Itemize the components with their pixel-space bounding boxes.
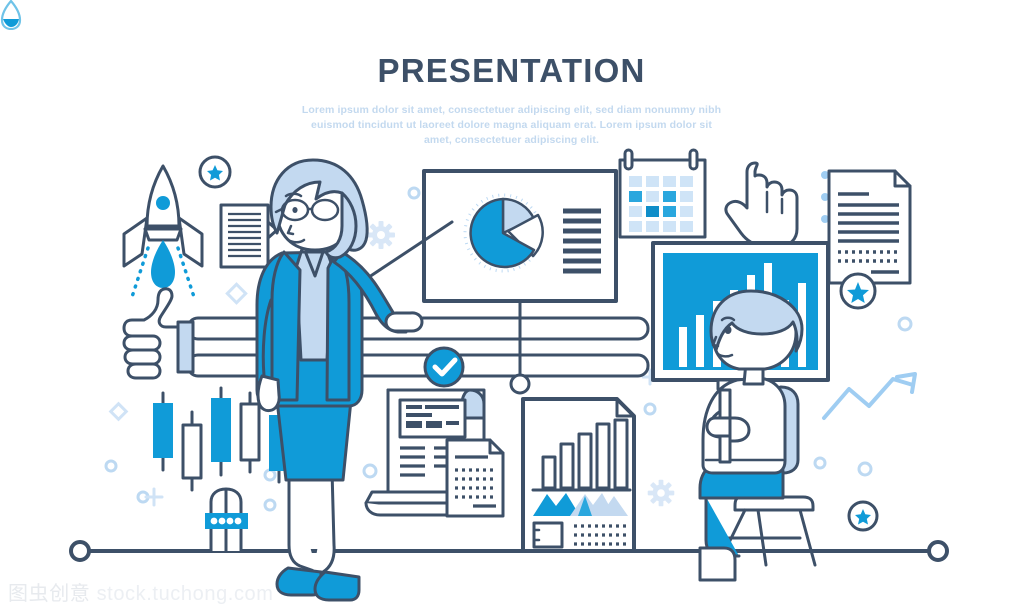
server-rack-icon: [205, 489, 248, 551]
page-subtitle: Lorem ipsum dolor sit amet, consectetuer…: [302, 103, 722, 148]
report-document-icon: [523, 399, 634, 551]
check-circle-icon: [425, 348, 463, 386]
star-badge-icon: [200, 157, 230, 187]
watermark-logo-icon: [0, 0, 22, 30]
folder-document-icon: [366, 390, 503, 516]
star-badge-right-icon: [849, 502, 877, 530]
document-lines-icon: [221, 205, 277, 267]
presentation-illustration: .ink{stroke:#3d5068;fill:none;stroke-wid…: [0, 0, 1023, 614]
calendar-icon: [620, 150, 705, 237]
seated-man: [700, 291, 815, 580]
page-title: PRESENTATION: [0, 52, 1023, 90]
illustration-stage: .ink{stroke:#3d5068;fill:none;stroke-wid…: [0, 0, 1023, 614]
board-legend-lines: [563, 211, 601, 271]
